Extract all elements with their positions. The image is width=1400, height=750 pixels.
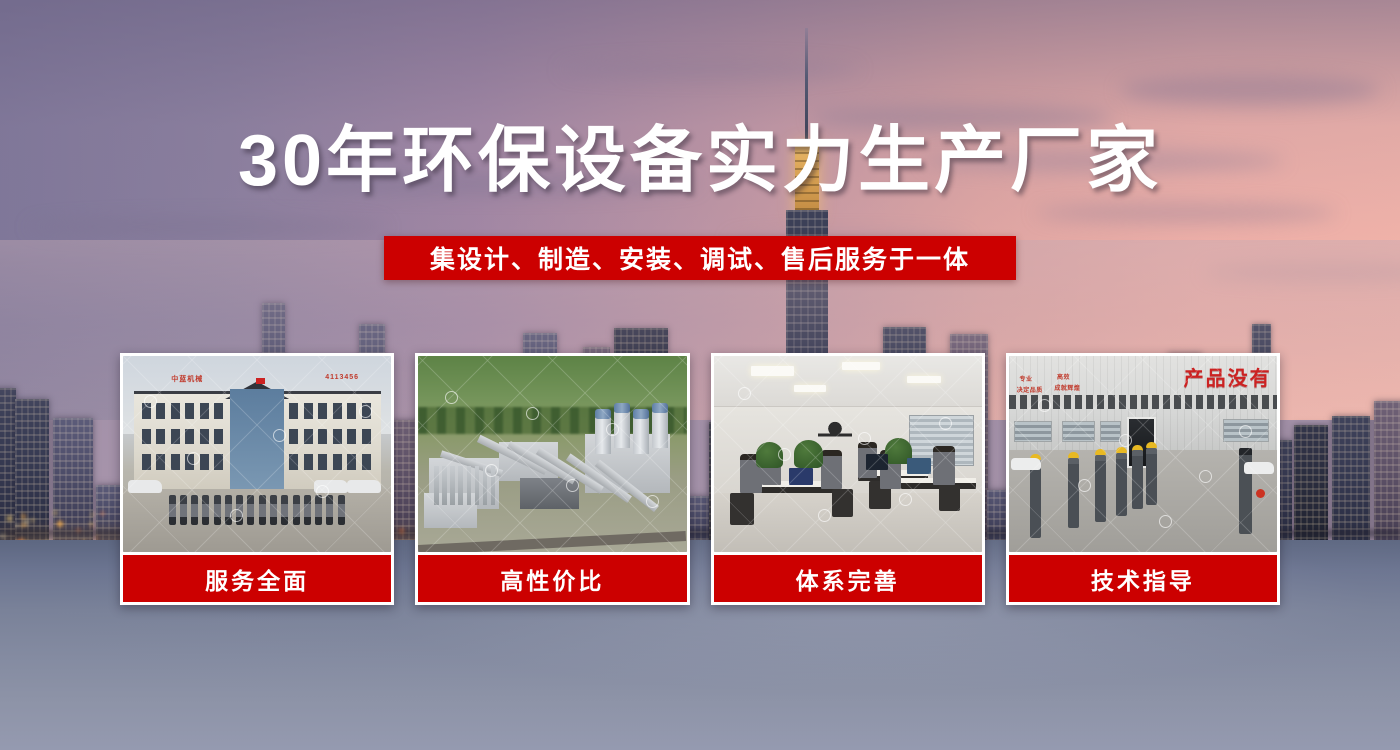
building-window	[142, 454, 151, 470]
silo-cap	[614, 403, 630, 413]
watermark-dot	[1239, 425, 1252, 438]
staff-person	[338, 495, 345, 525]
building-window	[171, 429, 180, 445]
factory-wall-slogan-small: 专业	[1019, 374, 1032, 383]
factory-worker	[1116, 453, 1127, 516]
feature-card-label: 服务全面	[123, 555, 391, 602]
feature-card-label: 高性价比	[418, 555, 686, 602]
building-window	[318, 454, 327, 470]
cloud-wisp	[560, 60, 860, 78]
workers-training-photo: 产品没有 专业 高效 决定品质 成就辉煌	[1009, 356, 1277, 552]
bank-light	[24, 520, 28, 524]
factory-worker	[1146, 448, 1157, 505]
parked-car	[1011, 458, 1041, 470]
watermark-dot	[606, 423, 619, 436]
staff-person	[304, 495, 311, 525]
building-window	[333, 454, 342, 470]
staff-person	[259, 495, 266, 525]
factory-window	[1014, 421, 1052, 443]
page-title: 30年环保设备实力生产厂家	[0, 124, 1400, 200]
building-window	[304, 429, 313, 445]
building-window	[304, 454, 313, 470]
watermark-dot	[273, 429, 286, 442]
bank-light	[7, 516, 12, 521]
promo-banner: 30年环保设备实力生产厂家 集设计、制造、安装、调试、售后服务于一体 中蓝机械 …	[0, 0, 1400, 750]
plant-stack	[475, 466, 479, 505]
building-window	[289, 403, 298, 419]
ceiling-light	[751, 366, 794, 376]
industrial-plant-aerial-photo	[418, 356, 686, 552]
plant-stack	[450, 466, 454, 505]
bank-light	[57, 521, 63, 527]
flag-icon	[256, 378, 265, 384]
laptop-screen	[789, 468, 813, 486]
plant-stack	[434, 466, 438, 505]
building-window	[156, 454, 165, 470]
factory-worker	[1068, 458, 1079, 529]
wall-logo-icon	[818, 419, 852, 443]
feature-card-label: 体系完善	[714, 555, 982, 602]
building-window	[214, 454, 223, 470]
staff-person	[225, 495, 232, 525]
building-window	[289, 454, 298, 470]
building-window	[347, 403, 356, 419]
factory-worker	[1095, 455, 1106, 522]
monitor	[907, 458, 931, 474]
feature-card-label: 技术指导	[1009, 555, 1277, 602]
feature-card[interactable]: 高性价比	[415, 353, 689, 605]
building-window	[289, 429, 298, 445]
skyline-building	[1294, 425, 1328, 540]
subtitle-banner: 集设计、制造、安装、调试、售后服务于一体	[384, 236, 1016, 280]
office-worker	[933, 446, 954, 485]
staff-person	[315, 495, 322, 525]
bank-light	[90, 522, 93, 525]
building-window	[347, 454, 356, 470]
staff-person	[202, 495, 209, 525]
building-window	[304, 403, 313, 419]
bank-light	[54, 511, 57, 514]
watermark-dot	[1199, 470, 1212, 483]
ceiling-light	[842, 362, 880, 370]
office-chair	[730, 493, 754, 524]
feature-card-label-text: 技术指导	[1091, 562, 1195, 596]
skyline-building	[1332, 416, 1370, 540]
factory-wall-slogan-small: 高效	[1057, 372, 1070, 381]
building-window	[200, 454, 209, 470]
office-worker	[821, 450, 842, 489]
silo-cap	[652, 403, 668, 413]
bank-light	[16, 524, 19, 527]
building-window	[200, 403, 209, 419]
bank-light	[101, 512, 104, 515]
plant-stack	[442, 466, 446, 505]
cloud-wisp	[1120, 75, 1380, 105]
building-window	[333, 429, 342, 445]
parked-car	[347, 480, 381, 493]
watermark-dot	[359, 405, 372, 418]
staff-person	[180, 495, 187, 525]
bank-light	[91, 526, 93, 528]
watermark-dot	[738, 387, 751, 400]
building-phone-number: 4113456	[325, 374, 359, 381]
building-window	[200, 429, 209, 445]
parked-car	[1244, 462, 1274, 474]
staff-person	[191, 495, 198, 525]
skyline-building	[1374, 401, 1400, 540]
silo-cap	[595, 409, 611, 419]
building-window	[214, 403, 223, 419]
feature-card-label-text: 高性价比	[500, 562, 604, 596]
factory-wall-slogan-small: 决定品质	[1017, 385, 1043, 394]
monitor	[866, 454, 887, 470]
factory-worker	[1132, 450, 1143, 509]
storage-silo	[633, 415, 649, 454]
office-chair	[939, 485, 960, 510]
factory-window	[1062, 421, 1094, 443]
building-window	[185, 429, 194, 445]
office-interior-photo	[714, 356, 982, 552]
watermark-dot	[899, 493, 912, 506]
building-window	[142, 429, 151, 445]
building-window	[185, 403, 194, 419]
parked-car	[128, 480, 162, 493]
ceiling-light	[794, 385, 826, 392]
watermark-dot	[818, 509, 831, 522]
building-glass-atrium	[230, 389, 284, 499]
silo-cap	[633, 409, 649, 419]
building-window	[318, 403, 327, 419]
staff-person	[214, 495, 221, 525]
staff-person	[326, 495, 333, 525]
watermark-dot	[939, 417, 952, 430]
watermark-dot	[526, 407, 539, 420]
building-window	[318, 429, 327, 445]
watermark-dot	[1159, 515, 1172, 528]
staff-person	[247, 495, 254, 525]
factory-wall-slogan: 产品没有	[1184, 362, 1272, 391]
plant-stack	[458, 466, 462, 505]
watermark-dot	[778, 448, 791, 461]
company-headquarters-photo: 中蓝机械 4113456	[123, 356, 391, 552]
storage-silo	[652, 409, 668, 448]
factory-wall-slogan-small: 成就辉煌	[1054, 383, 1080, 392]
photo-ground	[123, 489, 391, 552]
building-window	[156, 403, 165, 419]
office-chair	[832, 489, 853, 516]
feature-card[interactable]: 体系完善	[711, 353, 985, 605]
building-window	[347, 429, 356, 445]
building-window	[214, 429, 223, 445]
staff-person	[281, 495, 288, 525]
staff-person	[293, 495, 300, 525]
red-helmet-held	[1256, 489, 1265, 498]
staff-person	[169, 495, 176, 525]
subtitle-text: 集设计、制造、安装、调试、售后服务于一体	[430, 240, 970, 276]
bank-light	[31, 519, 34, 522]
bank-light	[22, 516, 25, 519]
building-window	[171, 454, 180, 470]
building-window	[171, 403, 180, 419]
safety-helmet-icon	[1068, 452, 1079, 458]
feature-card-label-text: 体系完善	[796, 562, 900, 596]
building-window	[362, 429, 371, 445]
feature-card[interactable]: 中蓝机械 4113456 服务全面	[120, 353, 394, 605]
feature-card[interactable]: 产品没有 专业 高效 决定品质 成就辉煌 技术指导	[1006, 353, 1280, 605]
feature-card-list: 中蓝机械 4113456 服务全面 高性价比	[120, 353, 1280, 605]
building-signage: 中蓝机械	[171, 374, 203, 384]
building-window	[333, 403, 342, 419]
office-plant	[794, 440, 824, 467]
building-window	[156, 429, 165, 445]
building-window	[362, 454, 371, 470]
factory-worker	[1030, 460, 1041, 538]
plant-road	[418, 531, 686, 552]
plant-stack	[467, 466, 471, 505]
ceiling-light	[907, 376, 942, 384]
staff-person	[270, 495, 277, 525]
bank-light	[91, 513, 94, 516]
feature-card-label-text: 服务全面	[205, 562, 309, 596]
